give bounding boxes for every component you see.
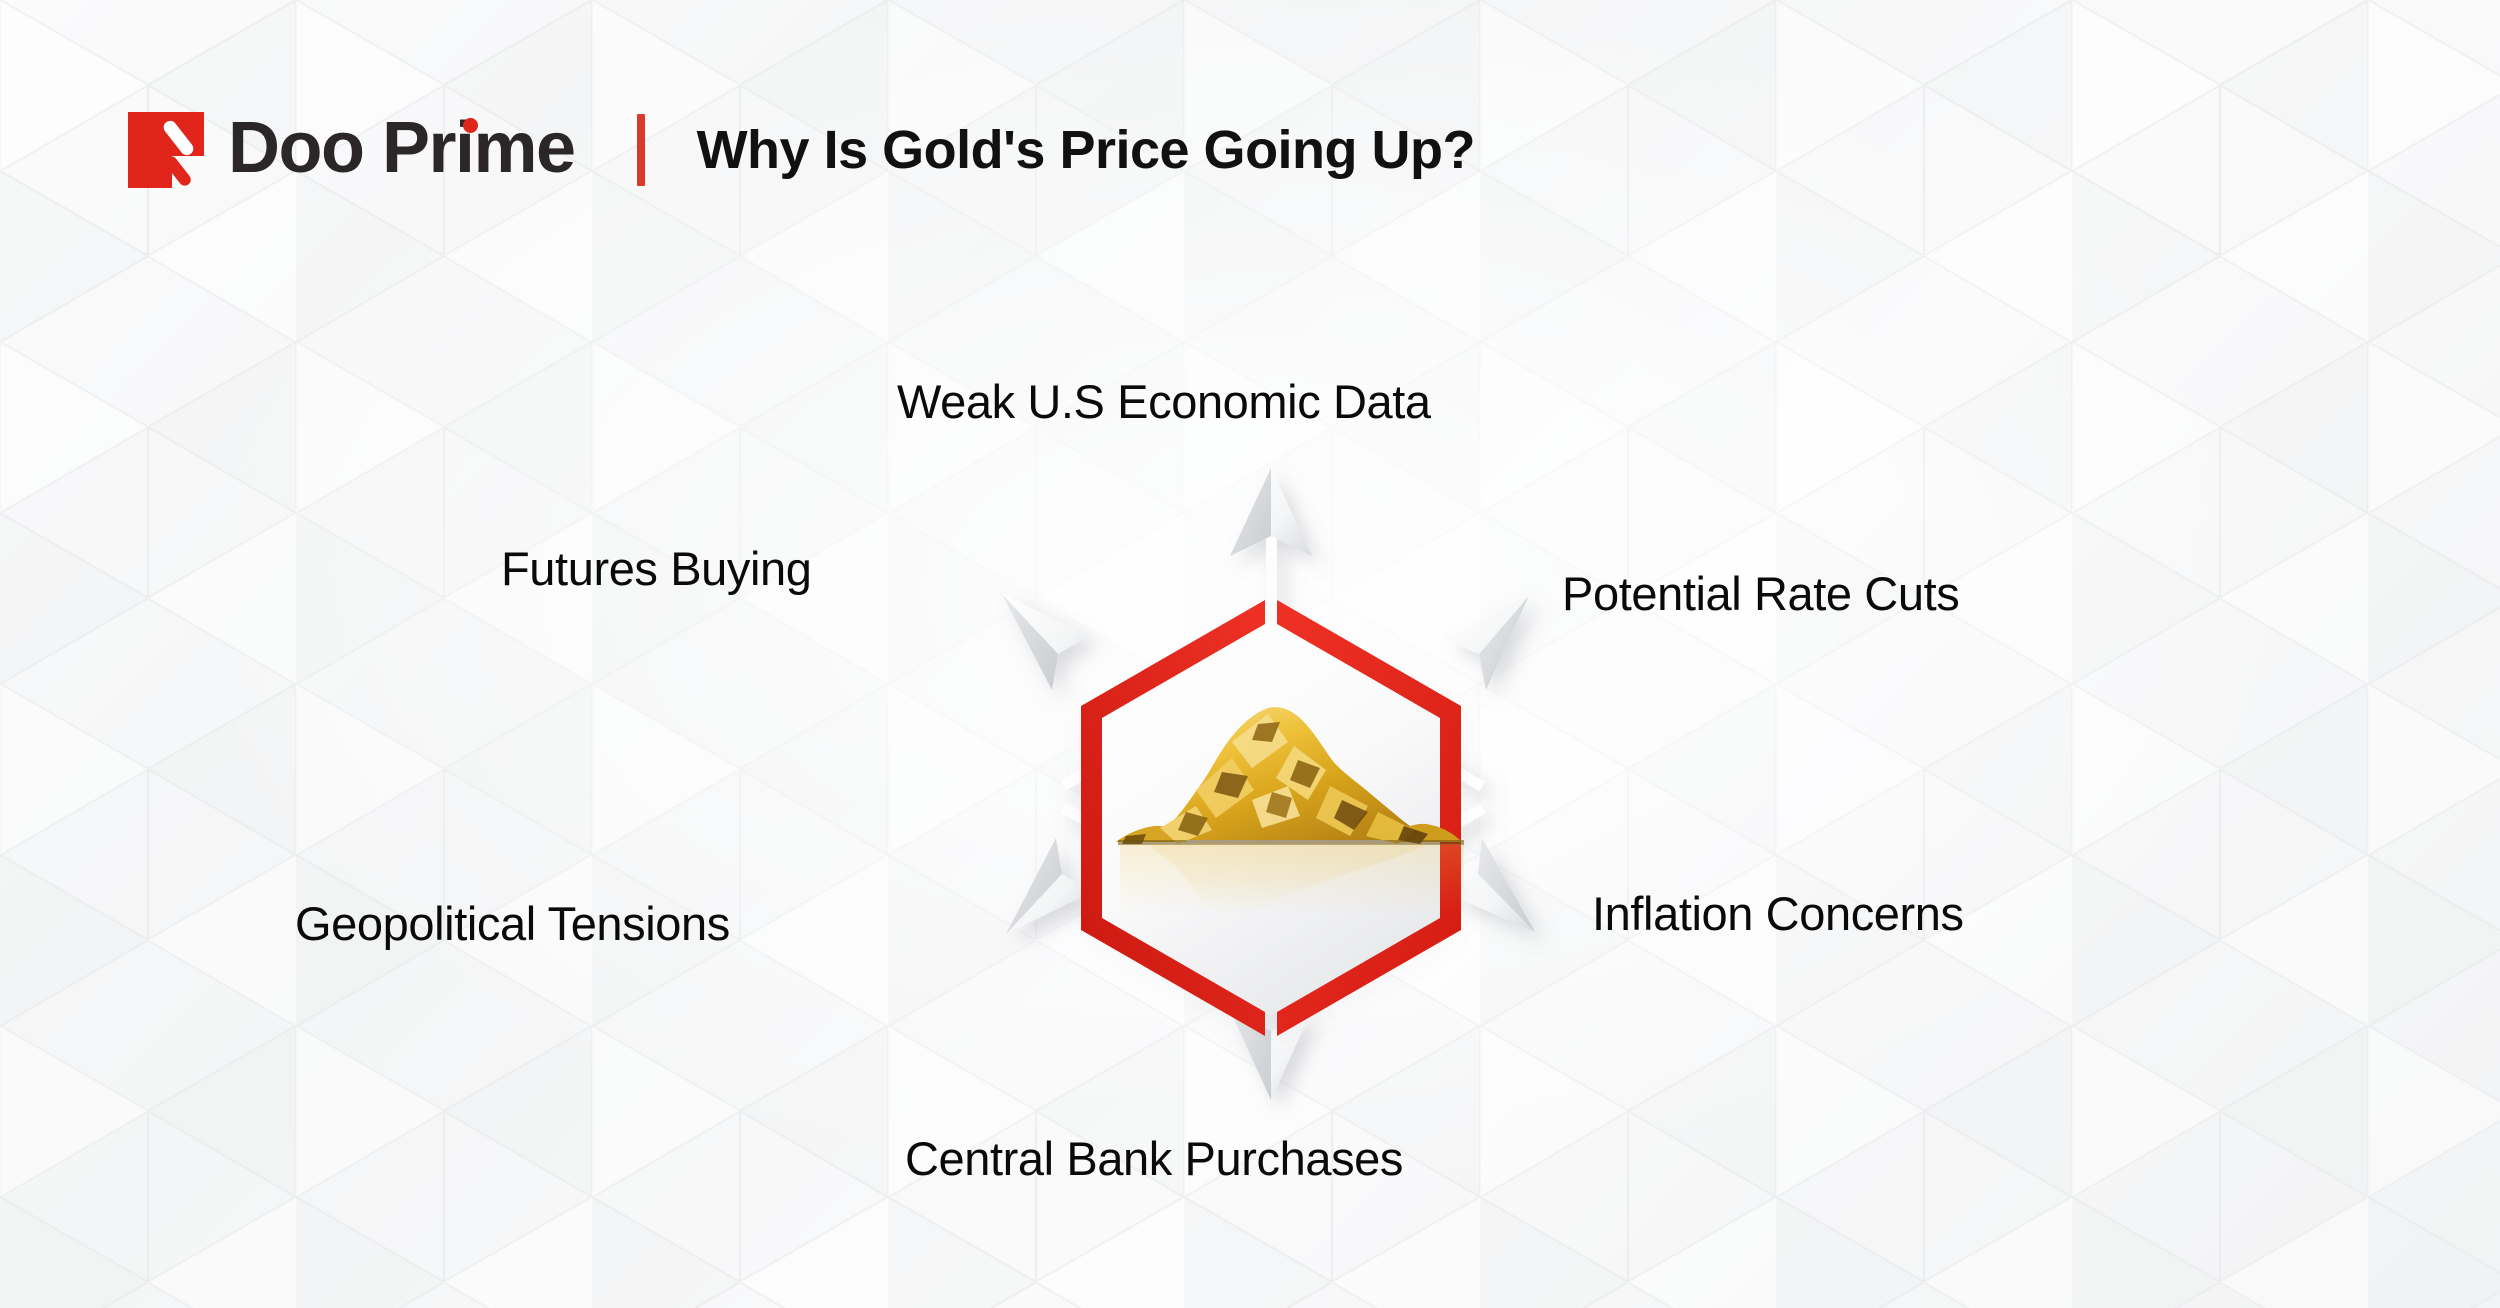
hexagon-border-left (1081, 600, 1265, 1036)
gold-nugget-icon (1116, 707, 1464, 914)
factor-label-potential-rate-cuts: Potential Rate Cuts (1562, 570, 1959, 617)
brand-name-text: Doo Prime (228, 108, 575, 188)
hexagon-face (1099, 620, 1443, 1016)
background-vignette (0, 0, 2500, 1308)
page-title: Why Is Gold's Price Going Up? (697, 123, 1475, 177)
radial-factor-diagram (0, 0, 2500, 1308)
arrow-up (1230, 468, 1312, 753)
center-hexagon (1081, 600, 1461, 1036)
factor-label-weak-us-economic-data: Weak U.S Economic Data (897, 378, 1431, 425)
factor-label-geopolitical-tensions: Geopolitical Tensions (295, 900, 730, 947)
brand-dot-accent (463, 118, 478, 133)
header: Doo Prime Why Is Gold's Price Going Up? (128, 105, 1475, 195)
hexagon-border-right (1277, 600, 1461, 1036)
arrow-down-right (1265, 804, 1535, 938)
arrow-down-left (1006, 803, 1281, 937)
factor-label-central-bank-purchases: Central Bank Purchases (905, 1135, 1403, 1182)
arrow-down (1230, 820, 1312, 1100)
brand-name: Doo Prime (228, 112, 575, 184)
arrow-up-right (1265, 596, 1529, 791)
factor-label-inflation-concerns: Inflation Concerns (1592, 890, 1964, 937)
infographic-canvas: Doo Prime Why Is Gold's Price Going Up? (0, 0, 2500, 1308)
arrow-up-left (1002, 594, 1281, 790)
background-pattern (0, 0, 2500, 1308)
arrow-group (1002, 468, 1535, 1100)
factor-label-futures-buying: Futures Buying (501, 545, 812, 592)
header-divider (637, 114, 645, 186)
doo-prime-logo-icon (128, 112, 204, 188)
